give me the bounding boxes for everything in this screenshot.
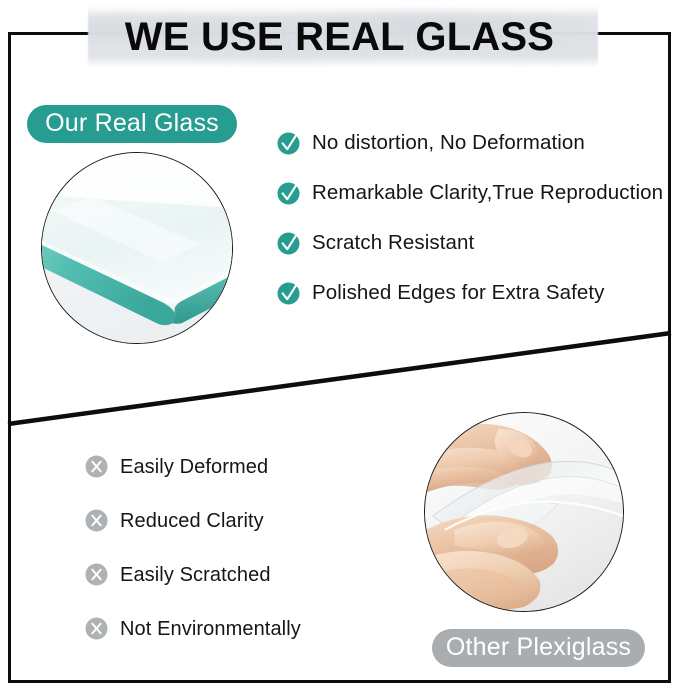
- badge-other-plexiglass: Other Plexiglass: [432, 629, 645, 667]
- photo-plexiglass: [424, 412, 624, 612]
- real-glass-illustration: [42, 153, 232, 343]
- list-item-label: No distortion, No Deformation: [312, 133, 585, 154]
- list-item: Not Environmentally: [85, 616, 415, 641]
- x-icon: [85, 455, 108, 478]
- list-item-label: Scratch Resistant: [312, 233, 474, 254]
- check-icon: [277, 182, 300, 205]
- list-item: Reduced Clarity: [85, 508, 415, 533]
- list-item-label: Remarkable Clarity,True Reproduction: [312, 183, 663, 204]
- list-item: Remarkable Clarity,True Reproduction: [277, 181, 677, 206]
- title-area: WE USE REAL GLASS: [0, 2, 679, 70]
- check-icon: [277, 232, 300, 255]
- list-item: Easily Scratched: [85, 562, 415, 587]
- x-icon: [85, 509, 108, 532]
- list-item: Scratch Resistant: [277, 231, 677, 256]
- x-icon: [85, 563, 108, 586]
- infographic-canvas: WE USE REAL GLASS Our Real Glass: [0, 0, 679, 691]
- list-item-label: Reduced Clarity: [120, 511, 264, 531]
- page-title: WE USE REAL GLASS: [125, 17, 554, 57]
- disadvantages-list: Easily Deformed Reduced Clarity Easily S…: [85, 454, 415, 670]
- photo-real-glass: [41, 152, 233, 344]
- check-icon: [277, 282, 300, 305]
- list-item-label: Easily Deformed: [120, 457, 268, 477]
- list-item: Easily Deformed: [85, 454, 415, 479]
- check-icon: [277, 132, 300, 155]
- list-item-label: Polished Edges for Extra Safety: [312, 283, 605, 304]
- badge-our-real-glass: Our Real Glass: [27, 105, 237, 143]
- x-icon: [85, 617, 108, 640]
- bending-plexiglass-illustration: [425, 413, 623, 611]
- list-item-label: Not Environmentally: [120, 619, 301, 639]
- advantages-list: No distortion, No Deformation Remarkable…: [277, 131, 677, 331]
- list-item: No distortion, No Deformation: [277, 131, 677, 156]
- list-item-label: Easily Scratched: [120, 565, 271, 585]
- list-item: Polished Edges for Extra Safety: [277, 281, 677, 306]
